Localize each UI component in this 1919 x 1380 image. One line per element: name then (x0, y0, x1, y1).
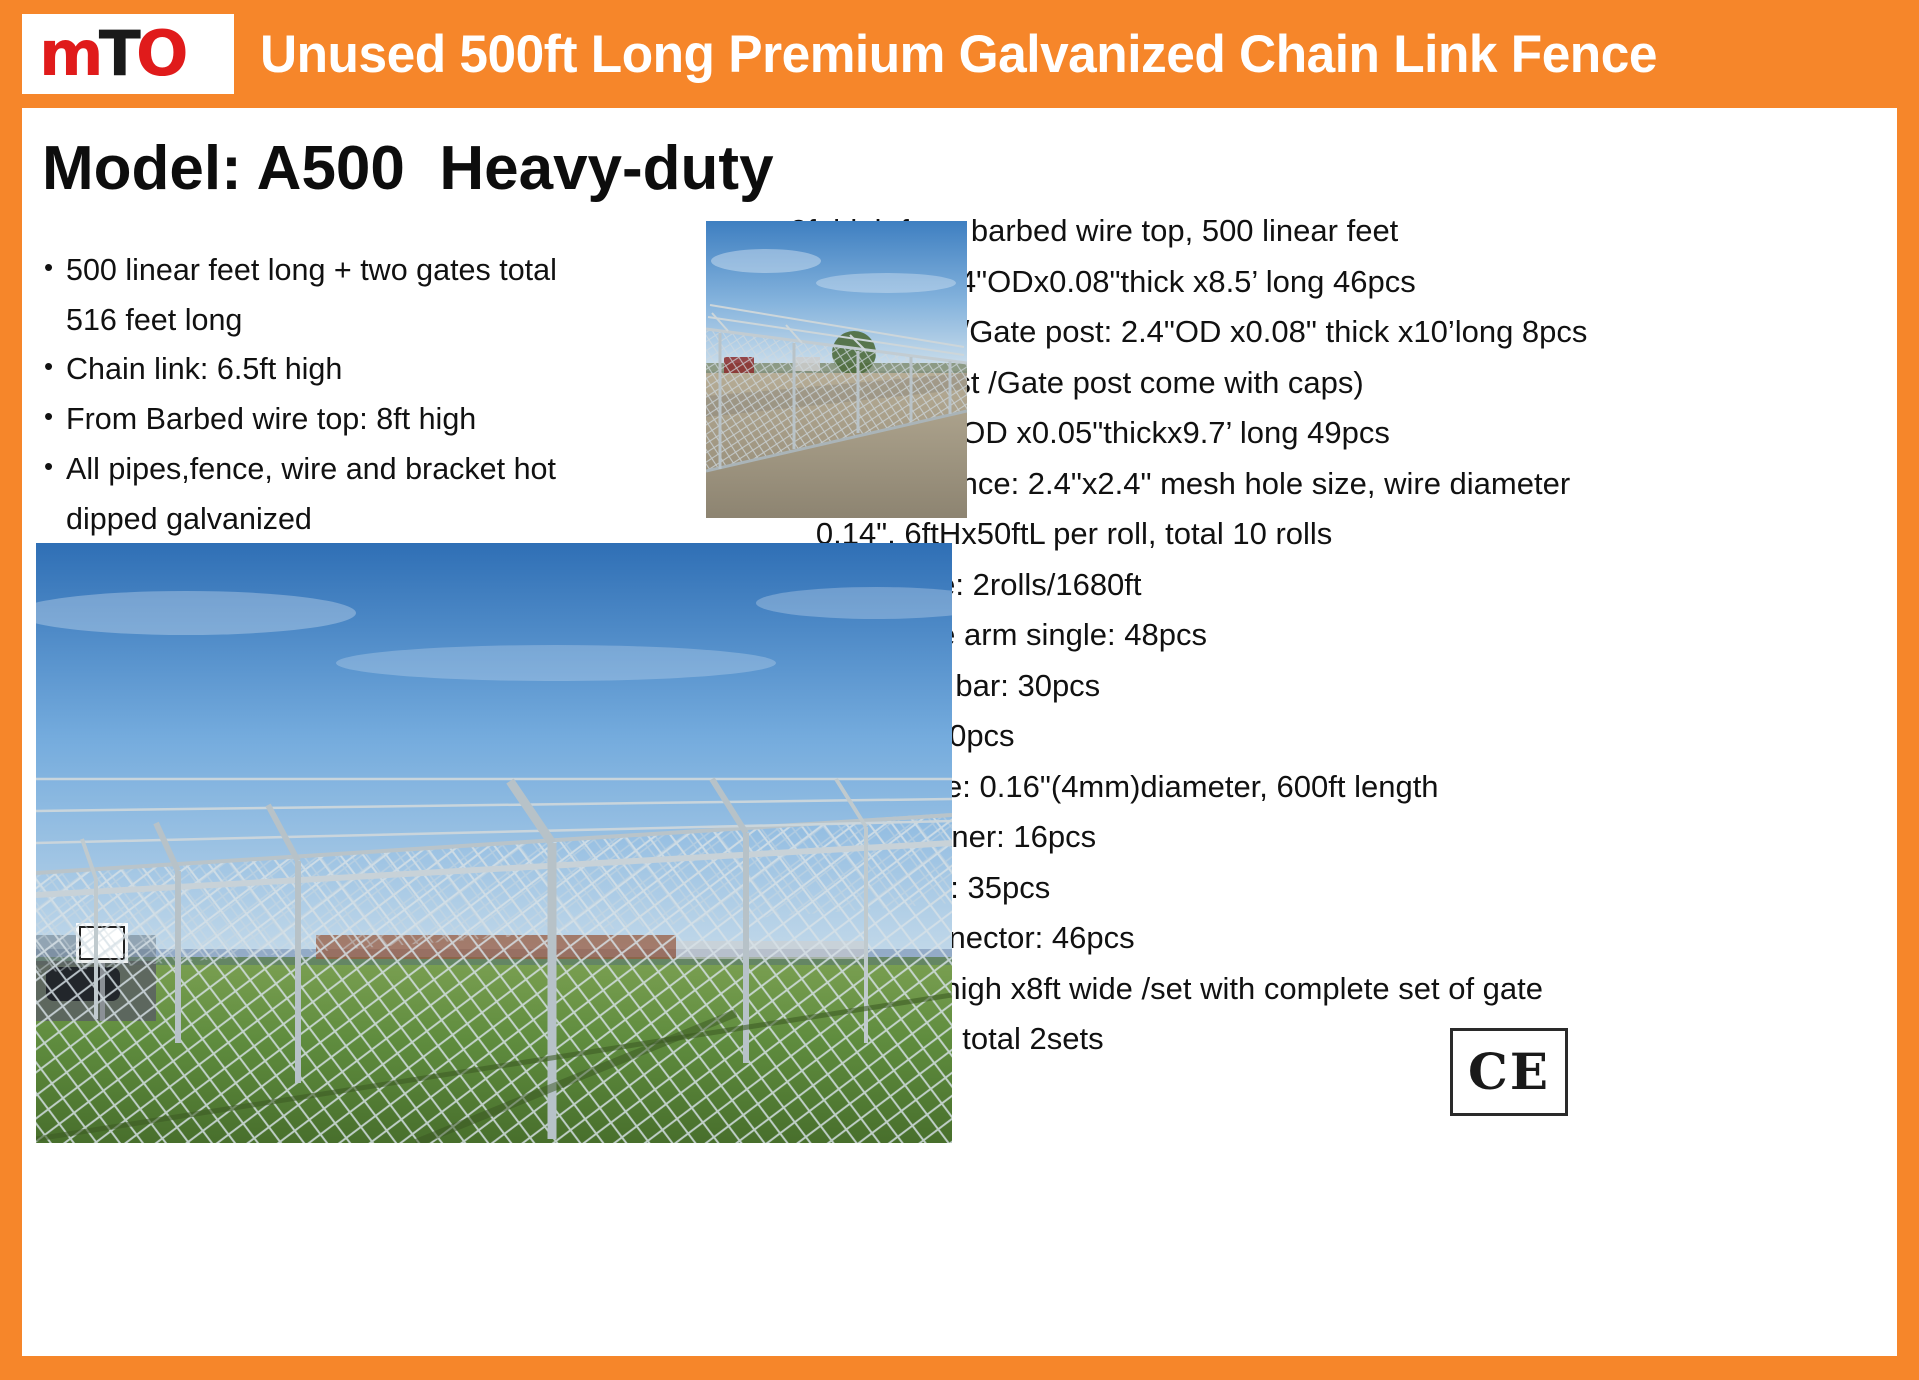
company-logo: mTO (22, 14, 234, 94)
ce-mark-box: CE (1450, 1028, 1568, 1116)
logo-letter-o: O (136, 17, 184, 90)
list-item: Chain link: 6.5ft high (40, 345, 700, 395)
left-spec-column: 500 linear feet long + two gates total 5… (40, 246, 700, 544)
logo-wordmark: mTO (39, 23, 184, 85)
page-title: Model: A500 Heavy-duty (42, 136, 774, 201)
header-title: Unused 500ft Long Premium Galvanized Cha… (260, 28, 1657, 81)
content-panel: Model: A500 Heavy-duty 500 linear feet l… (22, 108, 1897, 1356)
logo-letter-m: m (39, 17, 99, 90)
list-item: dipped galvanized (40, 495, 700, 545)
logo-glyph: mTO (39, 23, 217, 85)
product-spec-sheet: mTO Unused 500ft Long Premium Galvanized… (0, 0, 1919, 1380)
list-item: From Barbed wire top: 8ft high (40, 395, 700, 445)
left-spec-list: 500 linear feet long + two gates total 5… (40, 246, 700, 544)
header-bar: mTO Unused 500ft Long Premium Galvanized… (0, 0, 1919, 108)
product-photo-large (36, 543, 952, 1143)
fence-gravel-photo-svg (706, 221, 967, 518)
product-photo-small (706, 221, 967, 518)
ce-mark-label: CE (1468, 1047, 1550, 1097)
list-item: 516 feet long (40, 296, 700, 346)
logo-letter-t: T (99, 17, 136, 90)
list-item: 500 linear feet long + two gates total (40, 246, 700, 296)
fence-grass-photo-svg (36, 543, 952, 1143)
list-item: All pipes,fence, wire and bracket hot (40, 445, 700, 495)
